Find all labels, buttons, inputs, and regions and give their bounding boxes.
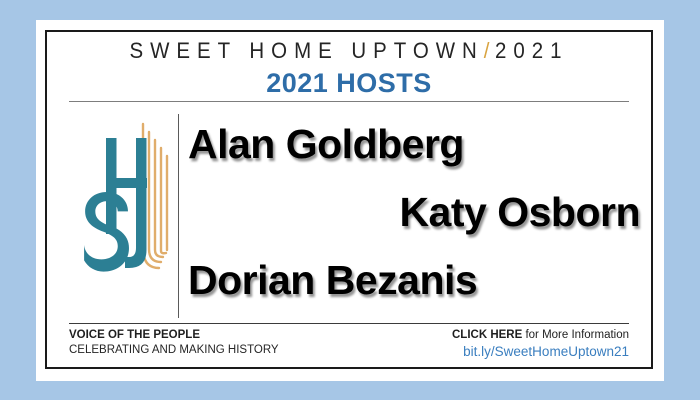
host-name: Katy Osborn <box>188 178 640 246</box>
shu-logo <box>73 118 173 298</box>
host-name: Dorian Bezanis <box>188 246 640 314</box>
footer-cta-text: CLICK HERE for More Information <box>452 328 629 343</box>
brand-title-year: 2021 <box>495 38 568 63</box>
logo-divider <box>178 114 179 318</box>
footer-tagline: VOICE OF THE PEOPLE CELEBRATING AND MAKI… <box>69 328 279 358</box>
footer-url-link[interactable]: bit.ly/SweetHomeUptown21 <box>463 344 629 359</box>
footer-cta-rest: for More Information <box>522 329 629 341</box>
brand-title: SWEET HOME UPTOWN/2021 <box>68 38 630 64</box>
footer-tagline-secondary: CELEBRATING AND MAKING HISTORY <box>69 343 279 358</box>
hosts-list: Alan Goldberg Katy Osborn Dorian Bezanis <box>188 110 640 320</box>
footer: VOICE OF THE PEOPLE CELEBRATING AND MAKI… <box>69 328 629 361</box>
brand-title-main: SWEET HOME UPTOWN <box>130 38 484 63</box>
click-here-label[interactable]: CLICK HERE <box>452 329 522 341</box>
brand-title-separator: / <box>484 38 495 63</box>
footer-tagline-primary: VOICE OF THE PEOPLE <box>69 328 279 343</box>
page-title: 2021 HOSTS <box>47 68 651 99</box>
footer-cta: CLICK HERE for More Information bit.ly/S… <box>452 328 629 361</box>
flyer-stage: SWEET HOME UPTOWN/2021 2021 HOSTS <box>0 0 700 400</box>
header-divider <box>69 101 629 102</box>
host-name: Alan Goldberg <box>188 110 640 178</box>
footer-divider <box>69 323 629 324</box>
shu-logo-icon <box>73 118 173 298</box>
flyer-card: SWEET HOME UPTOWN/2021 2021 HOSTS <box>45 30 653 369</box>
